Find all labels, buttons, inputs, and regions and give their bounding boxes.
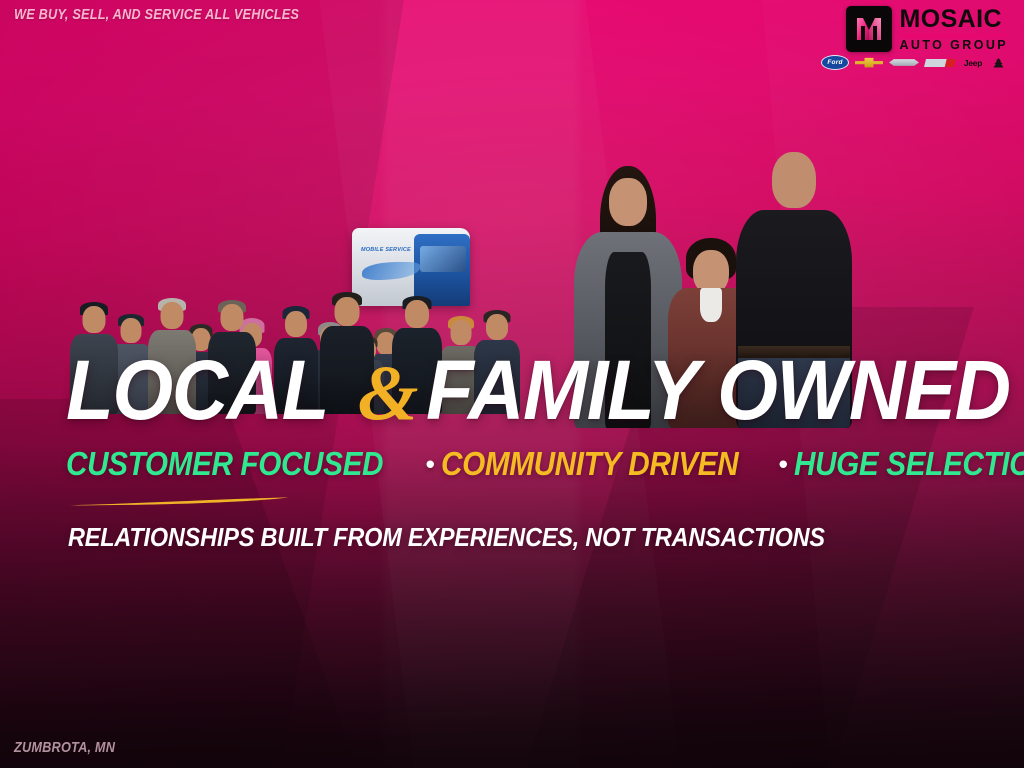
benefit-separator: • [425,451,434,477]
ford-logo-icon: Ford [821,55,849,70]
headline-word-family-owned: FAMILY OWNED [426,354,1010,428]
benefit-customer-focused: CUSTOMER FOCUSED [66,445,383,483]
bottom-fade-overlay [0,445,1024,768]
benefits-row: CUSTOMER FOCUSED • COMMUNITY DRIVEN • HU… [66,445,1024,483]
gold-divider-swoosh [68,497,288,507]
headline: LOCAL & FAMILY OWNED [66,348,1024,438]
jeep-logo-icon: Jeep [961,56,985,69]
mosaic-m-mark-icon [846,6,892,52]
logo-name: MOSAIC [900,7,1009,32]
brand-logo-row: Ford Jeep [821,55,1006,70]
benefit-separator: • [778,451,787,477]
logo-wordmark: MOSAIC AUTO GROUP [900,7,1009,52]
dodge-logo-icon [924,59,956,67]
chrysler-logo-icon [889,58,919,67]
headline-word-local: LOCAL [66,354,328,428]
benefit-huge-selection: HUGE SELECTION [794,445,1024,483]
headline-ampersand: & [358,348,419,438]
ram-logo-icon [991,56,1006,69]
van-lettering: MOBILE SERVICE [361,247,411,253]
logo-lockup: MOSAIC AUTO GROUP [846,6,1009,52]
advertisement-banner: MOBILE SERVICE [0,0,1024,768]
top-tagline: WE BUY, SELL, AND SERVICE ALL VEHICLES [14,7,299,23]
location-label: ZUMBROTA, MN [14,740,115,756]
logo-rule [900,34,1009,37]
subtitle: RELATIONSHIPS BUILT FROM EXPERIENCES, NO… [68,524,825,553]
benefit-community-driven: COMMUNITY DRIVEN [441,445,738,483]
chevrolet-logo-icon [855,57,883,68]
mosaic-auto-group-logo[interactable]: MOSAIC AUTO GROUP Ford Jeep [812,6,1008,70]
logo-subtitle: AUTO GROUP [900,39,1009,52]
